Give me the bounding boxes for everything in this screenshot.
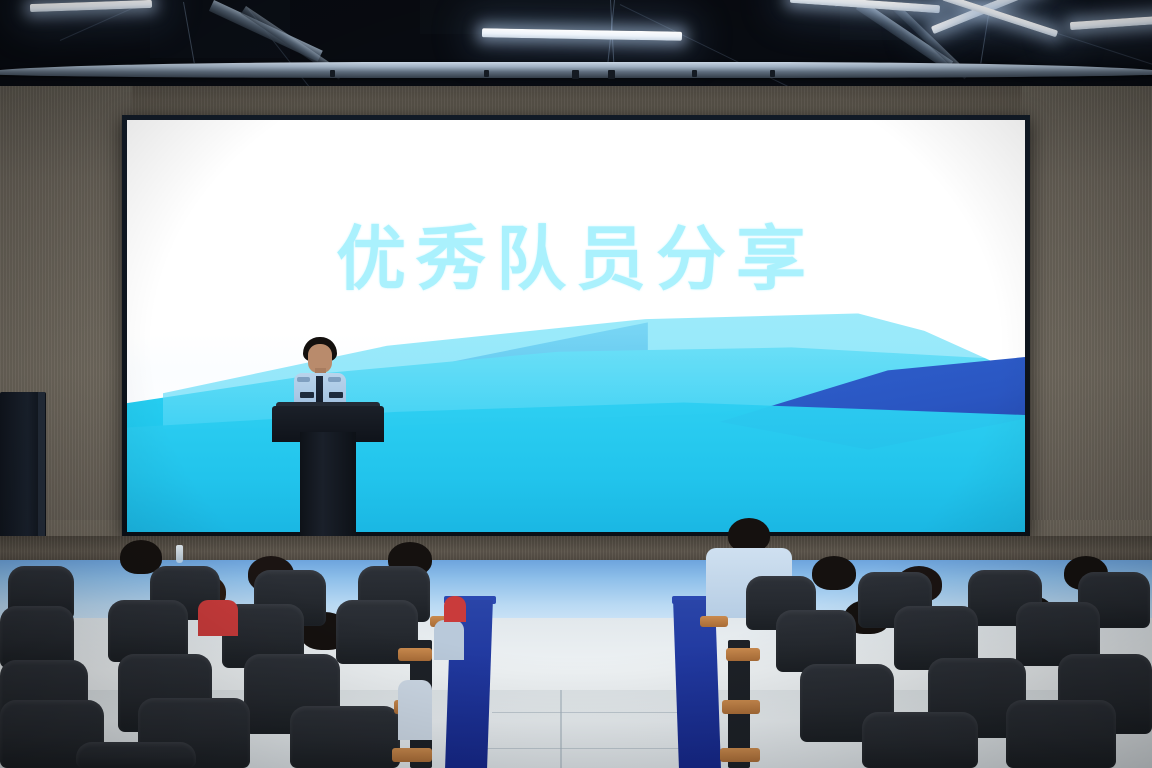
seat-front-gray[interactable] xyxy=(1006,700,1116,768)
floor-tile-seam-3 xyxy=(476,748,696,749)
rail-clip-4 xyxy=(692,70,697,77)
audience-student-shirt-red xyxy=(198,600,238,636)
armrest xyxy=(392,748,432,762)
audience-student-shirt xyxy=(398,680,432,740)
floor-tile-seam-2 xyxy=(492,712,682,713)
left-speaker-cabinet-edge xyxy=(38,392,45,544)
seat-front-red[interactable] xyxy=(76,742,196,768)
rail-clip-3 xyxy=(484,70,489,77)
rail-clip-2 xyxy=(608,70,615,79)
floor-tile-seam-1 xyxy=(560,690,562,768)
projection-screen-bezel: 优秀队员分享 xyxy=(122,115,1030,537)
presenter-badge-left xyxy=(300,392,314,398)
rail-clip-1 xyxy=(572,70,579,79)
water-bottle xyxy=(176,545,183,563)
seat-front-red[interactable] xyxy=(290,706,400,768)
audience-head xyxy=(728,518,770,552)
ceiling xyxy=(0,0,1152,92)
presenter-epaulette-left xyxy=(297,377,310,382)
auditorium-scene: 优秀队员分享 xyxy=(0,0,1152,768)
podium-column xyxy=(300,432,356,550)
projection-screen[interactable]: 优秀队员分享 xyxy=(127,120,1025,532)
presenter-badge-right xyxy=(329,392,343,398)
seat[interactable] xyxy=(0,606,74,668)
seat[interactable] xyxy=(108,600,188,662)
armrest xyxy=(722,700,760,714)
rail-clip-6 xyxy=(330,70,335,77)
seat-front-red[interactable] xyxy=(862,712,978,768)
audience-student-shirt-red xyxy=(444,596,466,622)
armrest xyxy=(700,616,728,627)
armrest xyxy=(720,748,760,762)
audience-student-shirt xyxy=(434,620,464,660)
seat[interactable] xyxy=(776,610,856,672)
armrest xyxy=(726,648,760,661)
slide-title: 优秀队员分享 xyxy=(127,224,1025,294)
armrest xyxy=(398,648,432,661)
rail-clip-5 xyxy=(770,70,775,77)
audience-head xyxy=(812,556,856,590)
presenter-epaulette-right xyxy=(328,377,341,382)
